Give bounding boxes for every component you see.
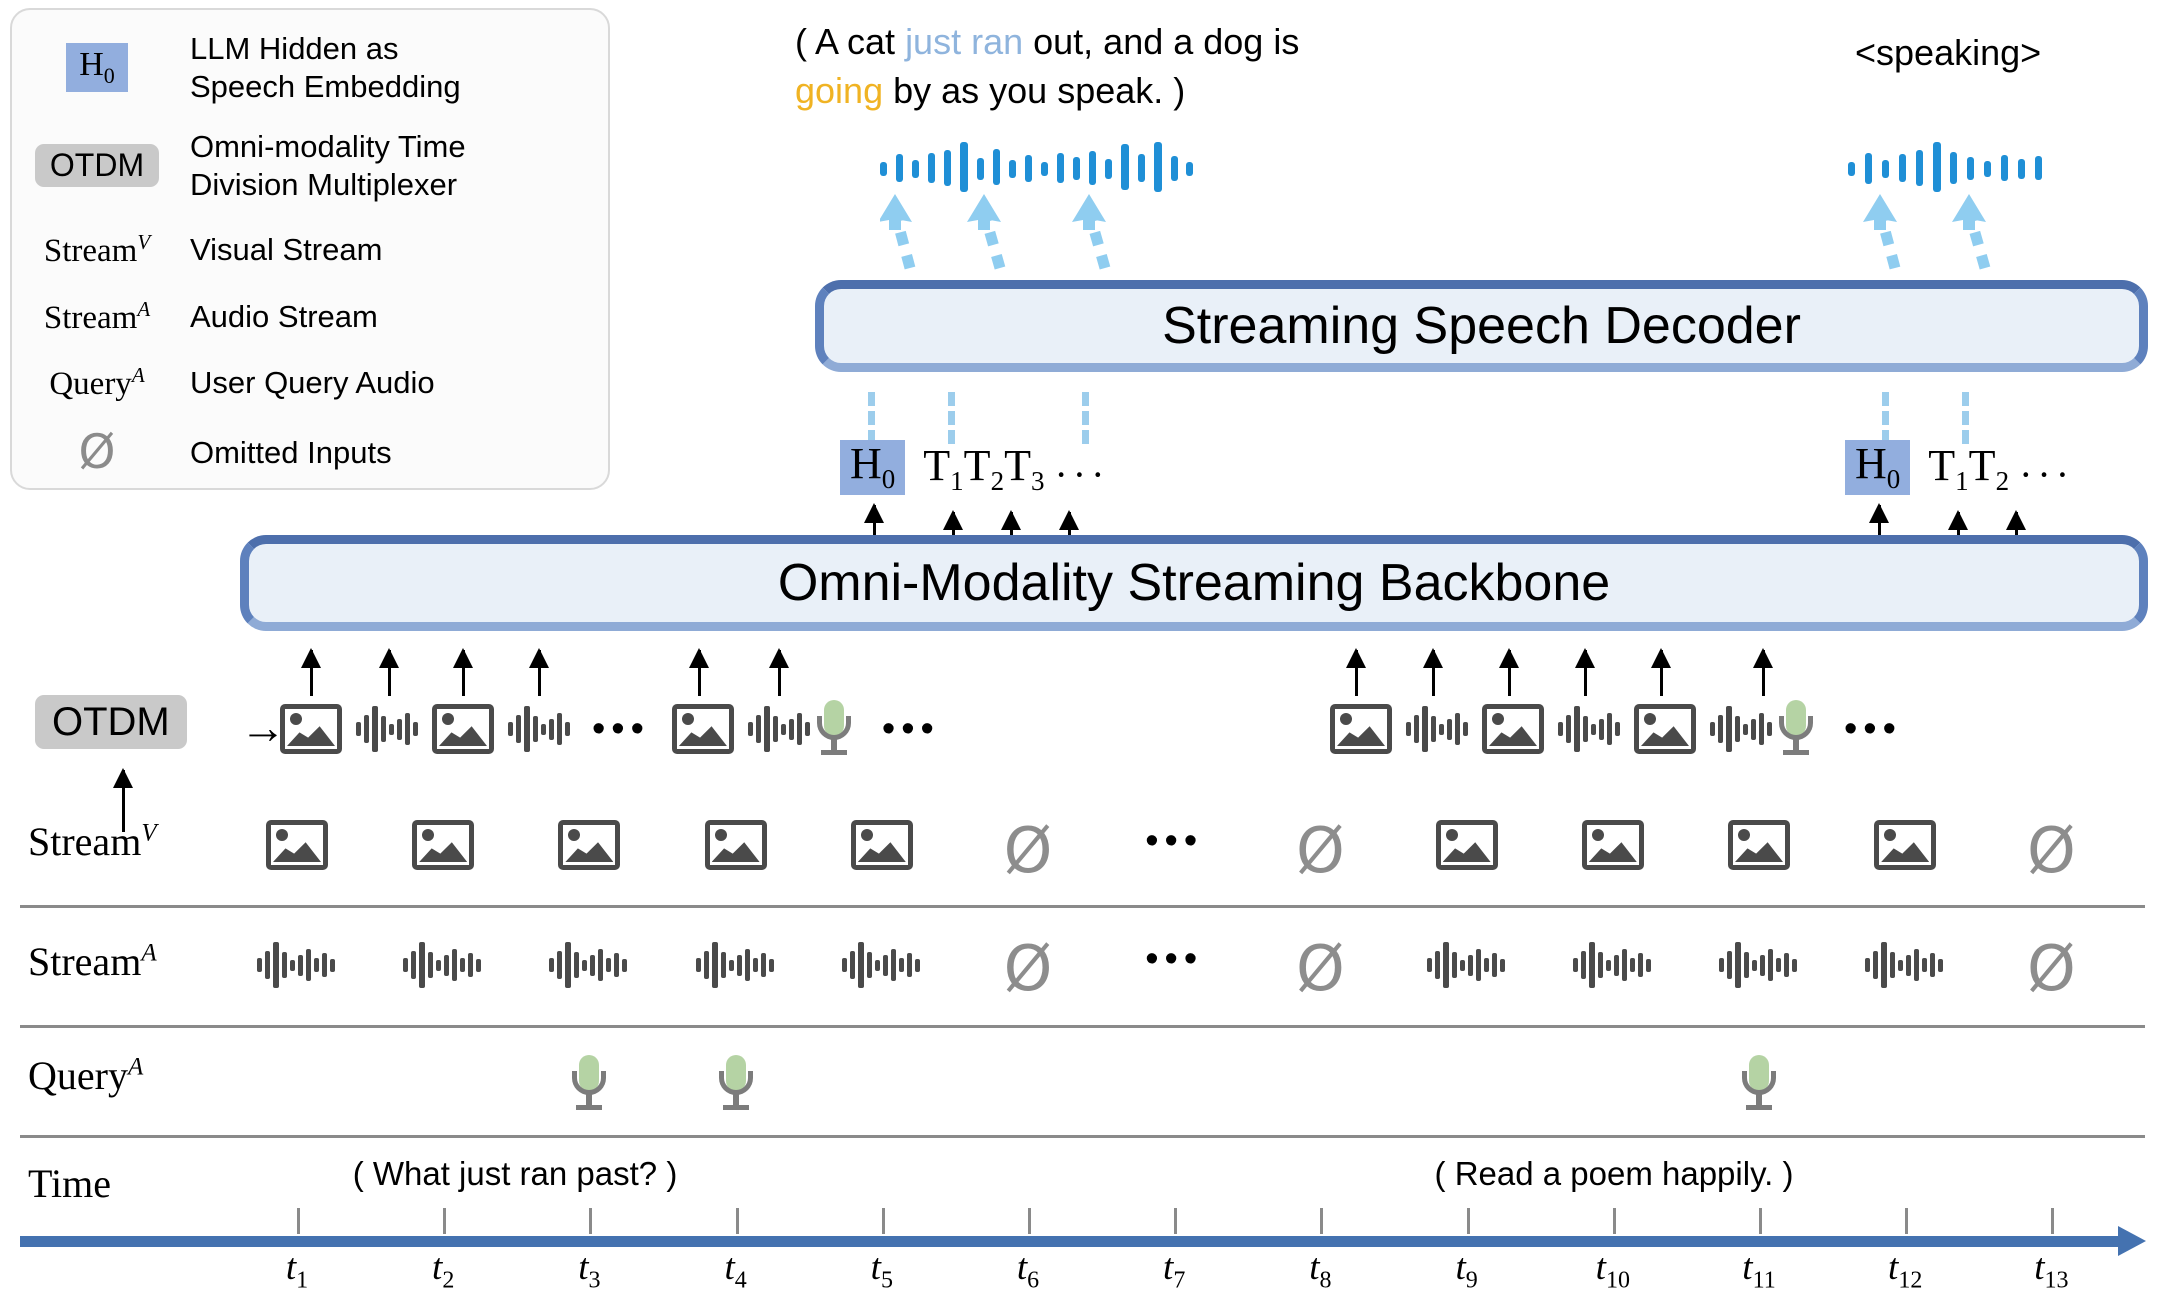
audio-waveform-icon [1719,938,1799,992]
image-icon [558,820,620,870]
otdm-backbone-arrow [462,650,465,696]
token-h0-left: H0 [840,440,905,495]
cell-visual-t5 [851,820,913,870]
image-icon [1634,704,1696,754]
audio-waveform-icon [1710,702,1772,756]
otdm-backbone-arrow [1355,650,1358,696]
cell-visual-t2 [412,820,474,870]
query-caption-left: ( What just ran past? ) [353,1155,678,1193]
token-ellipsis-left: ··· [1054,455,1109,495]
otdm-backbone-arrow [1584,650,1587,696]
time-axis-arrowhead-icon [2118,1226,2146,1256]
legend-item-stream-v: StreamV Visual Stream [12,230,608,270]
token-h0-right: H0 [1845,440,1910,495]
axis-tick-t2 [443,1208,446,1234]
image-icon [1436,820,1498,870]
cell-audio-t11 [1719,938,1799,992]
image-icon [851,820,913,870]
axis-tick-t6 [1028,1208,1031,1234]
decoder-output-arrows-left [880,190,1220,270]
decoder-token-connector-2 [948,392,955,444]
audio-waveform-icon [696,938,776,992]
axis-tick-t9 [1467,1208,1470,1234]
legend-item-h0: H0 LLM Hidden as Speech Embedding [12,30,608,106]
speaking-tag-label: <speaking> [1855,32,2041,74]
cell-audio-t9 [1427,938,1507,992]
h0-chip: H0 [66,43,128,92]
legend-desc-stream-a: Audio Stream [190,298,378,336]
token-group-left: H0 T1 T2 T3 ··· [840,440,1109,495]
audio-waveform-icon [842,938,922,992]
cell-audio-t5 [842,938,922,992]
cell-visual-t1 [266,820,328,870]
axis-tick-label-t4: t4 [724,1246,746,1294]
axis-tick-t1 [297,1208,300,1234]
microphone-icon [1739,1055,1779,1113]
axis-tick-t7 [1174,1208,1177,1234]
cell-visual-t11 [1728,820,1790,870]
image-icon [672,704,734,754]
image-icon [266,820,328,870]
axis-tick-label-t9: t9 [1455,1246,1477,1294]
generated-speech-transcript: ( A cat just ran out, and a dog is going… [795,18,1355,115]
audio-waveform-icon [257,938,337,992]
axis-tick-label-t6: t6 [1017,1246,1039,1294]
otdm-backbone-arrow [310,650,313,696]
cell-visual-t6: Ø [1004,820,1053,882]
legend-symbol-stream-a: StreamA [12,297,182,337]
otdm-backbone-arrow [538,650,541,696]
omitted-icon: Ø [79,425,116,480]
axis-tick-label-t1: t1 [286,1246,308,1294]
cell-audio-t10 [1573,938,1653,992]
cell-audio-t6: Ø [1004,938,1053,1000]
axis-tick-label-t8: t8 [1309,1246,1331,1294]
token-t3-left: T3 [1004,444,1044,495]
axis-tick-t10 [1613,1208,1616,1234]
audio-waveform-icon [748,702,810,756]
axis-tick-label-t7: t7 [1163,1246,1185,1294]
otdm-label-chip[interactable]: OTDM [35,700,187,745]
image-icon [705,820,767,870]
audio-waveform-icon [1865,938,1945,992]
otdm-backbone-arrow [1508,650,1511,696]
legend-symbol-stream-v: StreamV [12,230,182,270]
cell-query-t11 [1739,1055,1779,1113]
omitted-icon: Ø [1004,938,1053,1000]
otdm-backbone-arrow [1660,650,1663,696]
legend-panel: H0 LLM Hidden as Speech Embedding OTDM O… [10,8,610,490]
decoder-token-connector-1 [868,392,875,444]
query-caption-right: ( Read a poem happily. ) [1435,1155,1794,1193]
cell-audio-t3 [549,938,629,992]
axis-tick-t4 [736,1208,739,1234]
image-icon [432,704,494,754]
microphone-icon [1776,700,1816,758]
axis-tick-t3 [589,1208,592,1234]
cell-audio-t2 [403,938,483,992]
otdm-sequence-right: ••• [1330,700,1902,758]
legend-item-otdm: OTDM Omni-modality Time Division Multipl… [12,128,608,204]
audio-waveform-icon [1406,702,1468,756]
axis-tick-t13 [2051,1208,2054,1234]
otdm-ellipsis: ••• [882,708,940,751]
cell-visual-t7: ••• [1145,820,1203,863]
image-icon [1728,820,1790,870]
backbone-title: Omni-Modality Streaming Backbone [778,553,1610,613]
cell-visual-t3 [558,820,620,870]
row-ellipsis: ••• [1145,820,1203,863]
omitted-icon: Ø [1004,820,1053,882]
token-ellipsis-right: ··· [2019,455,2074,495]
audio-waveform-icon [508,702,570,756]
audio-waveform-icon [356,702,418,756]
otdm-backbone-arrow [698,650,701,696]
decoder-output-arrows-right [1855,190,2085,270]
row-label-stream-v: StreamV [28,818,157,865]
cell-visual-t9 [1436,820,1498,870]
image-icon [412,820,474,870]
audio-waveform-icon [403,938,483,992]
legend-symbol-h0: H0 [12,43,182,92]
otdm-chip: OTDM [35,144,159,187]
legend-desc-stream-v: Visual Stream [190,231,382,269]
row-divider-3 [20,1135,2145,1138]
cell-audio-t7: ••• [1145,938,1203,981]
row-divider-1 [20,905,2145,908]
audio-waveform-icon [1427,938,1507,992]
row-label-query-a: QueryA [28,1052,143,1099]
omitted-icon: Ø [2027,820,2076,882]
token-group-right: H0 T1 T2 ··· [1845,440,2074,495]
decoder-token-connector-4 [1882,392,1889,444]
token-t2-left: T2 [964,444,1004,495]
decoder-title: Streaming Speech Decoder [1162,296,1801,356]
speech-seg-1: ( A cat [795,21,905,62]
otdm-ellipsis: ••• [592,708,650,751]
row-label-stream-a: StreamA [28,938,157,985]
omitted-icon: Ø [2027,938,2076,1000]
speech-seg-2-highlight: just ran [905,21,1023,62]
audio-waveform-icon [1558,702,1620,756]
image-icon [1482,704,1544,754]
speech-seg-3: out, and a dog is [1023,21,1299,62]
otdm-backbone-arrow [1432,650,1435,696]
legend-item-null: Ø Omitted Inputs [12,425,608,480]
legend-item-stream-a: StreamA Audio Stream [12,297,608,337]
cell-visual-t8: Ø [1296,820,1345,882]
otdm-backbone-arrow [778,650,781,696]
speech-seg-5: by as you speak. ) [883,70,1185,111]
audio-waveform-icon [549,938,629,992]
time-axis-line [20,1236,2120,1247]
image-icon [1874,820,1936,870]
token-t1-right: T1 [1928,444,1968,495]
cell-audio-t12 [1865,938,1945,992]
cell-visual-t4 [705,820,767,870]
audio-waveform-icon [1573,938,1653,992]
cell-query-t3 [569,1055,609,1113]
omitted-icon: Ø [1296,938,1345,1000]
cell-visual-t10 [1582,820,1644,870]
axis-tick-t12 [1905,1208,1908,1234]
legend-symbol-query-a: QueryA [12,363,182,403]
legend-desc-null: Omitted Inputs [190,434,392,472]
image-icon [1582,820,1644,870]
token-t2-right: T2 [1969,444,2009,495]
axis-tick-label-t3: t3 [578,1246,600,1294]
legend-symbol-otdm: OTDM [12,144,182,187]
legend-desc-query-a: User Query Audio [190,364,435,402]
axis-tick-label-t2: t2 [432,1246,454,1294]
image-icon [1330,704,1392,754]
cell-visual-t12 [1874,820,1936,870]
axis-tick-label-t11: t11 [1742,1246,1775,1294]
otdm-backbone-arrow [388,650,391,696]
cell-audio-t8: Ø [1296,938,1345,1000]
legend-desc-h0: LLM Hidden as Speech Embedding [190,30,461,106]
axis-tick-label-t5: t5 [871,1246,893,1294]
otdm-sequence-left: ••• ••• [280,700,940,758]
image-icon [280,704,342,754]
legend-desc-otdm: Omni-modality Time Division Multiplexer [190,128,466,204]
token-t1-left: T1 [923,444,963,495]
axis-tick-label-t10: t10 [1596,1246,1630,1294]
legend-symbol-null: Ø [12,425,182,480]
omitted-icon: Ø [1296,820,1345,882]
decoder-token-connector-3 [1082,392,1089,444]
axis-tick-t11 [1759,1208,1762,1234]
axis-tick-t5 [882,1208,885,1234]
streaming-speech-decoder-box[interactable]: Streaming Speech Decoder [815,280,2148,372]
cell-audio-t13: Ø [2027,938,2076,1000]
axis-tick-label-t12: t12 [1888,1246,1922,1294]
legend-item-query-a: QueryA User Query Audio [12,363,608,403]
omni-modality-streaming-backbone-box[interactable]: Omni-Modality Streaming Backbone [240,535,2148,631]
axis-tick-t8 [1320,1208,1323,1234]
output-waveform-right [1848,140,2068,192]
microphone-icon [716,1055,756,1113]
cell-audio-t4 [696,938,776,992]
microphone-icon [569,1055,609,1113]
speech-seg-4-highlight: going [795,70,883,111]
row-ellipsis: ••• [1145,938,1203,981]
row-divider-2 [20,1025,2145,1028]
cell-query-t4 [716,1055,756,1113]
axis-tick-label-t13: t13 [2034,1246,2068,1294]
output-waveform-left [880,140,1200,192]
row-label-time: Time [28,1160,111,1207]
cell-visual-t13: Ø [2027,820,2076,882]
microphone-icon [814,700,854,758]
cell-audio-t1 [257,938,337,992]
decoder-token-connector-5 [1962,392,1969,444]
otdm-ellipsis: ••• [1844,708,1902,751]
otdm-backbone-arrow [1762,650,1765,696]
